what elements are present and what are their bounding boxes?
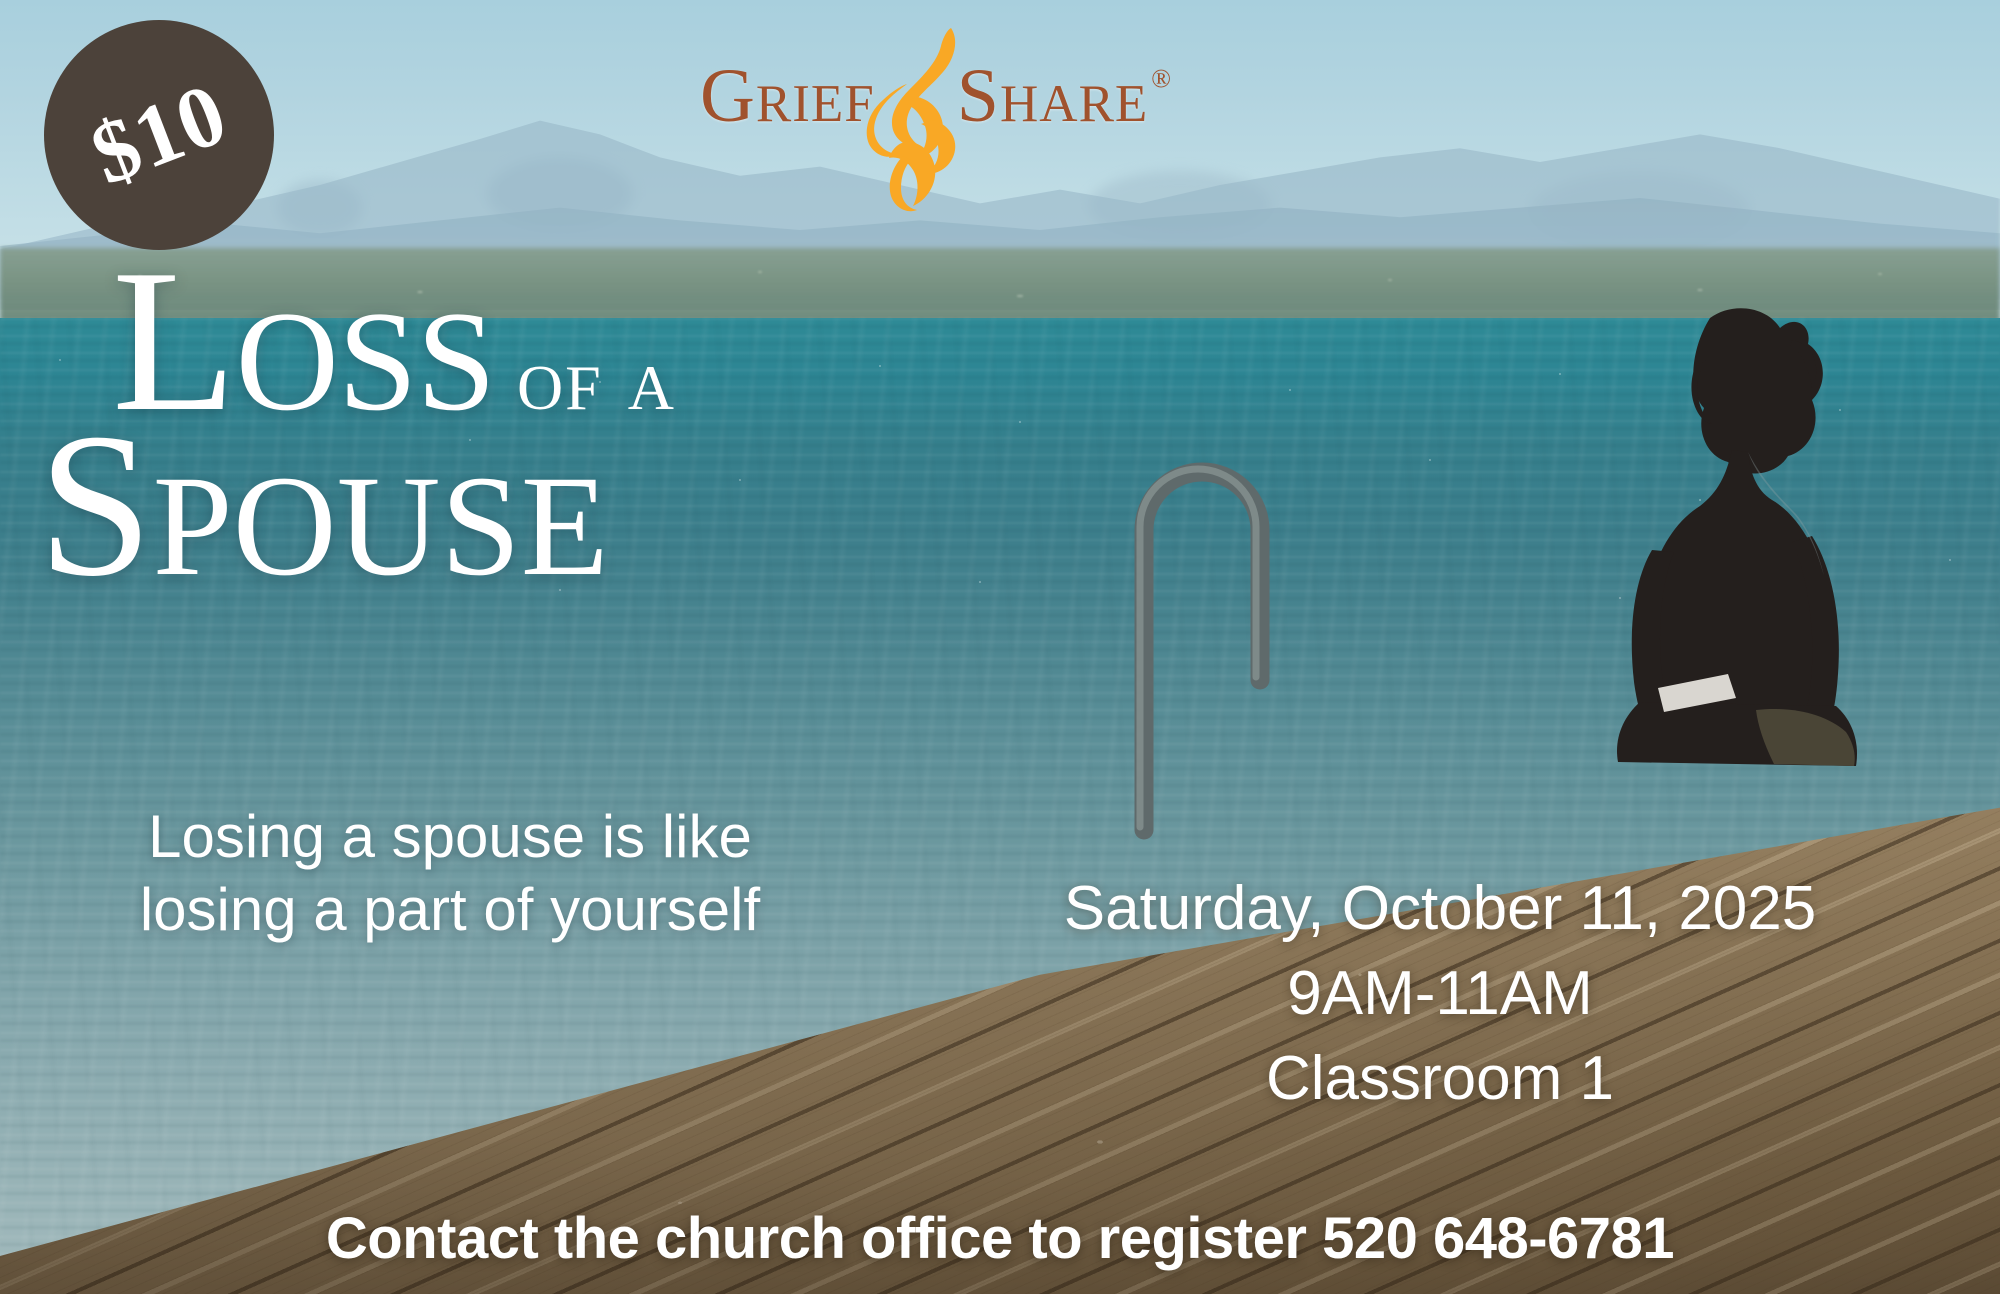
griefshare-flame-icon [863, 24, 967, 214]
contact-registration-line: Contact the church office to register 52… [0, 1205, 2000, 1272]
seated-woman-silhouette [1560, 300, 1890, 800]
event-location: Classroom 1 [910, 1042, 1970, 1115]
griefshare-logo: Grief Share ® [700, 58, 1171, 178]
headline-spouse: Spouse [38, 390, 609, 619]
event-date: Saturday, October 11, 2025 [910, 872, 1970, 945]
logo-word-share: Share [957, 58, 1149, 134]
registered-trademark-icon: ® [1151, 66, 1171, 92]
event-details: Saturday, October 11, 2025 9AM-11AM Clas… [910, 872, 1970, 1115]
headline-line-2: Spouse [0, 402, 900, 608]
event-time: 9AM-11AM [910, 957, 1970, 1030]
page-title: Loss of a Spouse [0, 248, 900, 608]
poster-canvas: $10 Grief Share ® Loss of a [0, 0, 2000, 1294]
price-badge: $10 [44, 20, 274, 250]
logo-word-grief: Grief [700, 58, 875, 134]
tagline-text: Losing a spouse is like losing a part of… [120, 800, 780, 946]
ladder-rail-icon [1120, 380, 1360, 830]
price-badge-label: $10 [80, 70, 238, 201]
